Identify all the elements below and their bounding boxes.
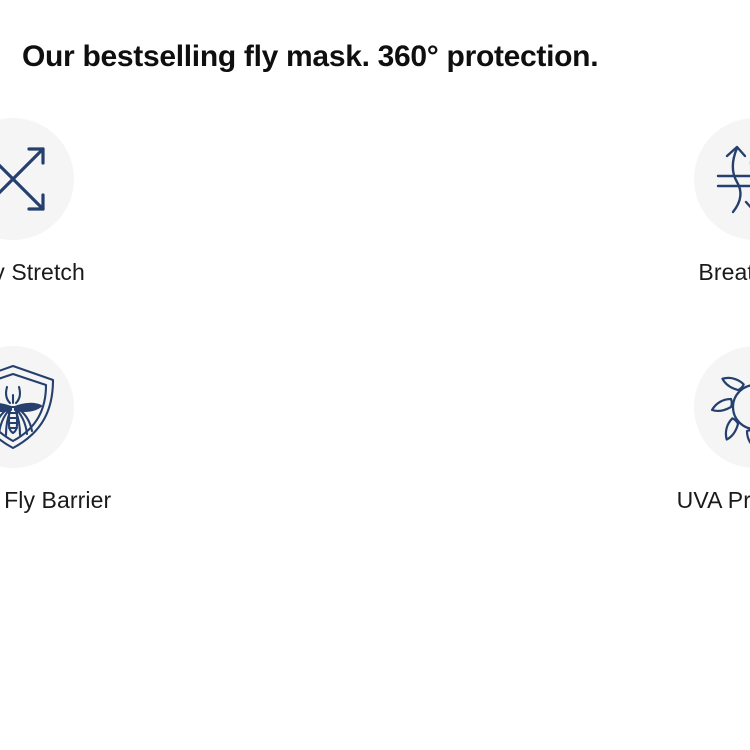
airflow-arrows-icon: [712, 136, 750, 222]
page-title: Our bestselling fly mask. 360° protectio…: [22, 38, 598, 76]
icon-badge: [0, 346, 74, 468]
icon-badge: [694, 346, 750, 468]
feature-label: UVA Protection: [677, 486, 750, 514]
feature-highlights-panel: Our bestselling fly mask. 360° protectio…: [0, 0, 750, 750]
icon-badge: [0, 118, 74, 240]
feature-label: Breathable: [698, 258, 750, 286]
shield-mosquito-icon: [0, 361, 59, 453]
feature-grid: 4 Way Stretch: [0, 118, 750, 514]
feature-item-breathable: Breathable: [567, 118, 750, 286]
feature-label: Insect & Fly Barrier: [0, 486, 111, 514]
feature-item-4-way-stretch: 4 Way Stretch: [0, 118, 200, 286]
four-way-arrows-icon: [0, 136, 56, 222]
feature-item-uva-protection: UVA Protection: [567, 346, 750, 514]
feature-item-insect-fly-barrier: Insect & Fly Barrier: [0, 346, 200, 514]
feature-label: 4 Way Stretch: [0, 258, 85, 286]
sun-icon: [710, 362, 750, 452]
icon-badge: [694, 118, 750, 240]
